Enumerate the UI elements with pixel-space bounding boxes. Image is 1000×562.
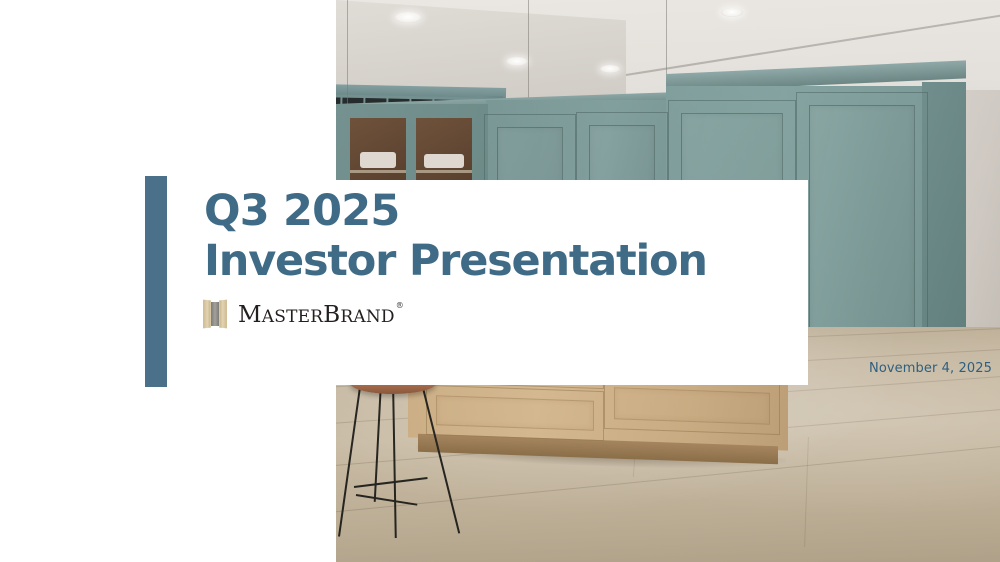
cabinet-door-icon bbox=[203, 299, 227, 329]
recessed-light-icon bbox=[394, 12, 422, 23]
wordmark-aster: ASTER bbox=[262, 307, 323, 327]
cabinet-shelf bbox=[350, 170, 406, 173]
page-title-line-2: Investor Presentation bbox=[204, 236, 804, 286]
recessed-light-icon bbox=[721, 8, 743, 17]
island-drawer bbox=[426, 385, 604, 441]
dishware bbox=[424, 154, 464, 168]
dishware bbox=[360, 152, 396, 168]
recessed-light-icon bbox=[600, 65, 620, 73]
cabinet-shelf bbox=[416, 170, 472, 173]
island-drawer bbox=[604, 377, 780, 435]
recessed-light-icon bbox=[506, 57, 528, 66]
accent-bar bbox=[145, 176, 167, 387]
wordmark-m: M bbox=[238, 302, 262, 328]
cabinet-door-spine bbox=[211, 302, 219, 326]
registered-trademark-icon: ® bbox=[396, 301, 404, 310]
page-title-line-1: Q3 2025 bbox=[204, 186, 804, 236]
wordmark-rand: RAND bbox=[340, 307, 394, 327]
masterbrand-wordmark: MASTERBRAND® bbox=[238, 304, 403, 327]
masterbrand-logo: MASTERBRAND® bbox=[203, 299, 403, 329]
cabinet-door-left-panel bbox=[203, 300, 211, 329]
presentation-date: November 4, 2025 bbox=[202, 361, 992, 376]
presentation-slide: Q3 2025 Investor Presentation MASTERBRAN… bbox=[0, 0, 1000, 562]
wordmark-b: B bbox=[323, 302, 340, 328]
title-block: Q3 2025 Investor Presentation bbox=[204, 186, 804, 286]
cabinet-door-right-panel bbox=[219, 300, 227, 329]
